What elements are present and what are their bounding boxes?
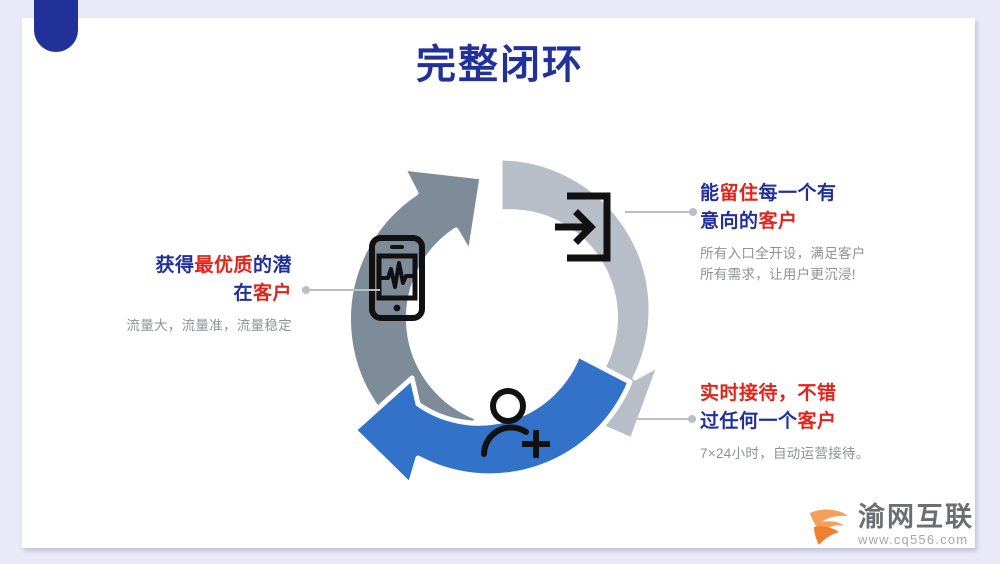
decorative-blue-tab (34, 0, 78, 52)
callout-left-subtext: 流量大，流量准，流量稳定 (60, 316, 292, 337)
subtext-line: 所有需求，让用户更沉浸! (700, 267, 856, 282)
watermark-name: 渝网互联 (858, 504, 974, 531)
watermark-logo-icon (806, 503, 852, 547)
callout-bottom-right-subtext: 7×24小时，自动运营接待。 (700, 444, 950, 465)
callout-top-right-headline: 能留住每一个有意向的客户 (700, 180, 950, 235)
cycle-diagram-svg (330, 140, 670, 480)
callout-left-headline: 获得最优质的潜在客户 (60, 252, 292, 307)
headline-part: 在 (233, 283, 253, 304)
callout-top-right: 能留住每一个有意向的客户 所有入口全开设，满足客户所有需求，让用户更沉浸! (700, 180, 950, 286)
headline-part: 获得 (155, 255, 194, 276)
headline-part-highlight: 留住 (720, 183, 759, 204)
headline-part: 意向的 (700, 211, 759, 232)
cycle-diagram (330, 140, 670, 480)
headline-part: 能 (700, 183, 720, 204)
subtext-line: 所有入口全开设，满足客户 (700, 246, 866, 261)
headline-part-highlight: 客户 (759, 211, 798, 232)
headline-part: 过任何一个 (700, 411, 798, 432)
headline-part-highlight: 实时接待，不错 (700, 383, 837, 404)
callout-bottom-right: 实时接待，不错过任何一个客户 7×24小时，自动运营接待。 (700, 380, 950, 465)
headline-part-highlight: 最优质 (194, 255, 253, 276)
connector-line-left (302, 289, 380, 291)
connector-dot (688, 415, 696, 423)
page-title: 完整闭环 (0, 32, 1000, 90)
connector-dot (302, 286, 310, 294)
callout-top-right-subtext: 所有入口全开设，满足客户所有需求，让用户更沉浸! (700, 244, 950, 286)
watermark-text: 渝网互联 www.cq556.com (858, 504, 974, 546)
connector-line-bottom-right (618, 418, 696, 420)
headline-part-highlight: 客户 (253, 283, 292, 304)
connector-dot (689, 208, 697, 216)
callout-bottom-right-headline: 实时接待，不错过任何一个客户 (700, 380, 950, 435)
watermark: 渝网互联 www.cq556.com (806, 497, 996, 553)
callout-left: 获得最优质的潜在客户 流量大，流量准，流量稳定 (60, 252, 292, 337)
connector-line-top-right (625, 211, 697, 213)
headline-part-highlight: 客户 (798, 411, 837, 432)
headline-part: 的潜 (253, 255, 292, 276)
headline-part: 每一个有 (759, 183, 837, 204)
watermark-url: www.cq556.com (858, 533, 974, 546)
